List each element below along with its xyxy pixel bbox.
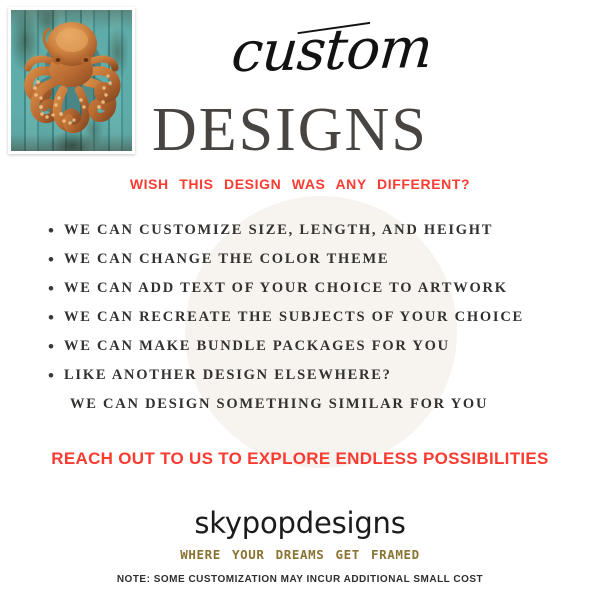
- list-item-continuation: • WE CAN DESIGN SOMETHING SIMILAR FOR YO…: [48, 390, 588, 419]
- promo-graphic: custom DESIGNS WISH THIS DESIGN WAS ANY …: [0, 0, 600, 600]
- footer-note: NOTE: SOME CUSTOMIZATION MAY INCUR ADDIT…: [0, 574, 600, 585]
- list-item: • WE CAN CHANGE THE COLOR THEME: [48, 245, 588, 274]
- list-item-label: LIKE ANOTHER DESIGN ELSEWHERE?: [64, 367, 392, 384]
- octopus-icon: [11, 10, 132, 151]
- list-item: • WE CAN ADD TEXT OF YOUR CHOICE TO ARTW…: [48, 274, 588, 303]
- list-item: • WE CAN RECREATE THE SUBJECTS OF YOUR C…: [48, 303, 588, 332]
- brand-logo-text: skypopdesigns: [0, 506, 600, 540]
- list-item: • LIKE ANOTHER DESIGN ELSEWHERE?: [48, 361, 588, 390]
- list-item: • WE CAN CUSTOMIZE SIZE, LENGTH, AND HEI…: [48, 216, 588, 245]
- feature-list: • WE CAN CUSTOMIZE SIZE, LENGTH, AND HEI…: [48, 216, 588, 419]
- list-item-label: WE CAN DESIGN SOMETHING SIMILAR FOR YOU: [64, 396, 488, 413]
- headline-script-word: custom: [229, 19, 534, 81]
- list-item-label: WE CAN RECREATE THE SUBJECTS OF YOUR CHO…: [64, 309, 524, 326]
- artwork-thumbnail[interactable]: [8, 7, 135, 154]
- list-item-label: WE CAN CUSTOMIZE SIZE, LENGTH, AND HEIGH…: [64, 222, 493, 239]
- list-item-label: WE CAN MAKE BUNDLE PACKAGES FOR YOU: [64, 338, 450, 355]
- page-title: DESIGNS: [152, 99, 428, 161]
- list-item-label: WE CAN CHANGE THE COLOR THEME: [64, 251, 389, 268]
- bullet-icon: •: [48, 280, 64, 297]
- bullet-icon: •: [48, 251, 64, 268]
- brand-tagline: WHERE YOUR DREAMS GET FRAMED: [0, 547, 600, 562]
- bullet-icon: •: [48, 338, 64, 355]
- list-item-label: WE CAN ADD TEXT OF YOUR CHOICE TO ARTWOR…: [64, 280, 508, 297]
- bullet-icon: •: [48, 367, 64, 384]
- call-to-action-text: REACH OUT TO US TO EXPLORE ENDLESS POSSI…: [0, 449, 600, 469]
- artwork-canvas: [11, 10, 132, 151]
- list-item: • WE CAN MAKE BUNDLE PACKAGES FOR YOU: [48, 332, 588, 361]
- bullet-icon: •: [48, 222, 64, 239]
- headline-tagline: WISH THIS DESIGN WAS ANY DIFFERENT?: [0, 176, 600, 192]
- bullet-icon: •: [48, 309, 64, 326]
